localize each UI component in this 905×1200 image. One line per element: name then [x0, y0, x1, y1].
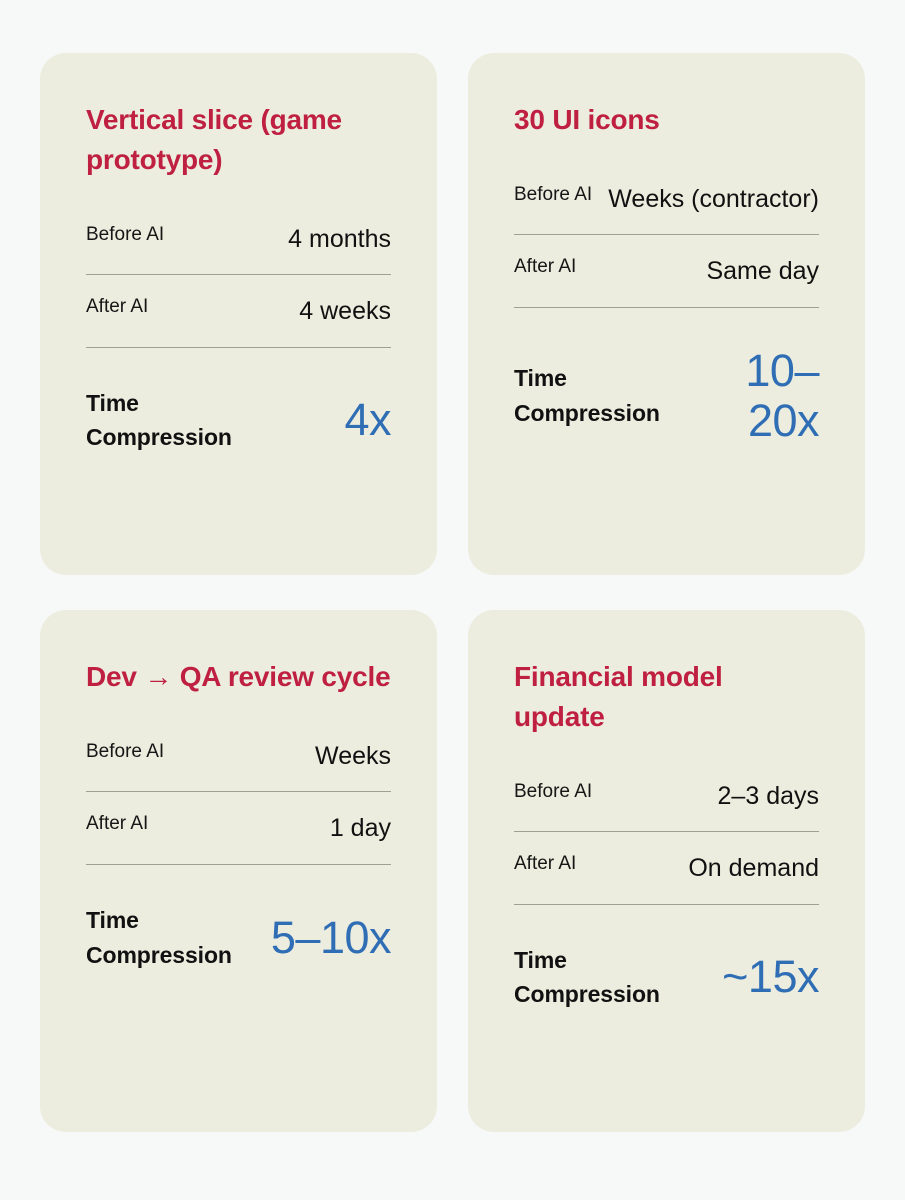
metric-card-ui-icons: 30 UI icons Before AI Weeks (contractor)…: [468, 53, 865, 575]
row-value: Weeks: [315, 739, 391, 774]
row-value: On demand: [688, 851, 819, 886]
comparison-rows: Before AI Weeks After AI 1 day: [86, 739, 391, 865]
card-title: Vertical slice (game prototype): [86, 100, 391, 180]
comparison-rows: Before AI 2–3 days After AI On demand: [514, 779, 819, 905]
row-label: After AI: [86, 811, 148, 837]
metric-card-dev-qa-cycle: Dev → QA review cycle Before AI Weeks Af…: [40, 610, 437, 1132]
time-compression-summary: Time Compression 10–20x: [514, 346, 819, 447]
row-value: 4 weeks: [299, 294, 391, 329]
card-title: Dev → QA review cycle: [86, 657, 391, 697]
comparison-rows: Before AI Weeks (contractor) After AI Sa…: [514, 182, 819, 308]
summary-value: ~15x: [722, 952, 819, 1002]
time-compression-summary: Time Compression 4x: [86, 386, 391, 456]
comparison-row-before: Before AI 4 months: [86, 222, 391, 276]
row-value: 1 day: [330, 811, 391, 846]
row-label: Before AI: [514, 779, 592, 805]
summary-value: 5–10x: [271, 913, 391, 963]
card-title: Financial model update: [514, 657, 819, 737]
comparison-row-after: After AI On demand: [514, 832, 819, 905]
summary-label: Time Compression: [86, 386, 261, 456]
metric-card-grid: Vertical slice (game prototype) Before A…: [0, 0, 905, 1200]
comparison-row-before: Before AI Weeks (contractor): [514, 182, 819, 236]
comparison-row-after: After AI Same day: [514, 235, 819, 308]
row-value: 4 months: [288, 222, 391, 257]
time-compression-summary: Time Compression ~15x: [514, 943, 819, 1013]
row-label: Before AI: [86, 739, 164, 765]
row-value: 2–3 days: [718, 779, 819, 814]
row-label: After AI: [86, 294, 148, 320]
row-label: Before AI: [86, 222, 164, 248]
comparison-row-after: After AI 1 day: [86, 792, 391, 865]
summary-label: Time Compression: [86, 903, 261, 973]
row-label: Before AI: [514, 182, 592, 208]
row-label: After AI: [514, 254, 576, 280]
comparison-rows: Before AI 4 months After AI 4 weeks: [86, 222, 391, 348]
summary-label: Time Compression: [514, 943, 689, 1013]
time-compression-summary: Time Compression 5–10x: [86, 903, 391, 973]
metric-card-vertical-slice: Vertical slice (game prototype) Before A…: [40, 53, 437, 575]
row-label: After AI: [514, 851, 576, 877]
summary-value: 4x: [344, 395, 391, 445]
comparison-row-before: Before AI 2–3 days: [514, 779, 819, 833]
card-title: 30 UI icons: [514, 100, 819, 140]
comparison-row-after: After AI 4 weeks: [86, 275, 391, 348]
summary-value: 10–20x: [695, 346, 819, 447]
row-value: Weeks (contractor): [608, 182, 819, 217]
summary-label: Time Compression: [514, 361, 689, 431]
row-value: Same day: [706, 254, 819, 289]
metric-card-financial-model: Financial model update Before AI 2–3 day…: [468, 610, 865, 1132]
comparison-row-before: Before AI Weeks: [86, 739, 391, 793]
